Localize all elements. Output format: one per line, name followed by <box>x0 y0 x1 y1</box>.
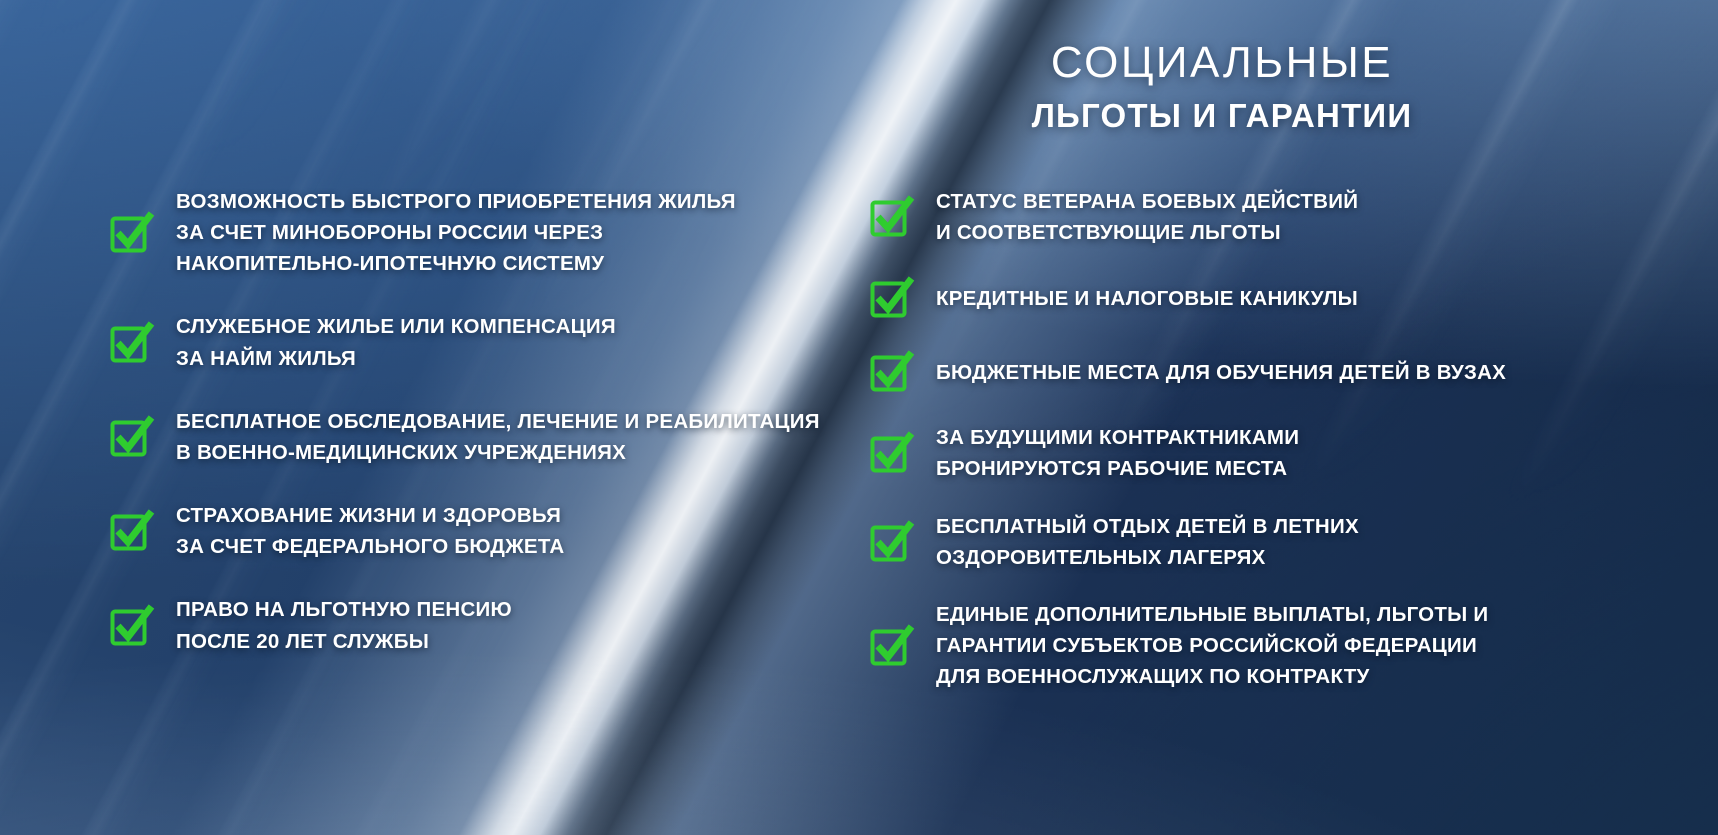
poster-content: СОЦИАЛЬНЫЕ ЛЬГОТЫ И ГАРАНТИИ ВОЗМОЖНОСТЬ… <box>0 0 1718 835</box>
benefit-item: ПРАВО НА ЛЬГОТНУЮ ПЕНСИЮПОСЛЕ 20 ЛЕТ СЛУ… <box>108 594 838 656</box>
benefit-text-line: ЕДИНЫЕ ДОПОЛНИТЕЛЬНЫЕ ВЫПЛАТЫ, ЛЬГОТЫ И <box>936 599 1488 630</box>
benefit-text: ВОЗМОЖНОСТЬ БЫСТРОГО ПРИОБРЕТЕНИЯ ЖИЛЬЯЗ… <box>176 186 736 279</box>
benefit-text: СТАТУС ВЕТЕРАНА БОЕВЫХ ДЕЙСТВИЙИ СООТВЕТ… <box>936 186 1358 248</box>
page-title: СОЦИАЛЬНЫЕ ЛЬГОТЫ И ГАРАНТИИ <box>862 40 1582 134</box>
checkbox-checked-icon <box>108 602 156 650</box>
checkbox-checked-icon <box>868 622 916 670</box>
benefit-text: ЗА БУДУЩИМИ КОНТРАКТНИКАМИБРОНИРУЮТСЯ РА… <box>936 422 1299 484</box>
benefit-text-line: И СООТВЕТСТВУЮЩИЕ ЛЬГОТЫ <box>936 217 1358 248</box>
benefits-column-left: ВОЗМОЖНОСТЬ БЫСТРОГО ПРИОБРЕТЕНИЯ ЖИЛЬЯЗ… <box>108 186 838 689</box>
benefit-text-line: КРЕДИТНЫЕ И НАЛОГОВЫЕ КАНИКУЛЫ <box>936 283 1358 314</box>
benefit-text-line: СЛУЖЕБНОЕ ЖИЛЬЕ ИЛИ КОМПЕНСАЦИЯ <box>176 311 616 342</box>
benefit-text-line: ЗА СЧЕТ МИНОБОРОНЫ РОССИИ ЧЕРЕЗ <box>176 217 736 248</box>
benefit-item: СЛУЖЕБНОЕ ЖИЛЬЕ ИЛИ КОМПЕНСАЦИЯЗА НАЙМ Ж… <box>108 311 838 373</box>
benefit-text-line: ЗА НАЙМ ЖИЛЬЯ <box>176 343 616 374</box>
benefit-text-line: ОЗДОРОВИТЕЛЬНЫХ ЛАГЕРЯХ <box>936 542 1359 573</box>
benefit-text-line: ПОСЛЕ 20 ЛЕТ СЛУЖБЫ <box>176 626 512 657</box>
benefit-text-line: БЕСПЛАТНОЕ ОБСЛЕДОВАНИЕ, ЛЕЧЕНИЕ И РЕАБИ… <box>176 406 820 437</box>
benefit-text: КРЕДИТНЫЕ И НАЛОГОВЫЕ КАНИКУЛЫ <box>936 283 1358 314</box>
benefit-text: БЮДЖЕТНЫЕ МЕСТА ДЛЯ ОБУЧЕНИЯ ДЕТЕЙ В ВУЗ… <box>936 357 1506 388</box>
benefit-text-line: ПРАВО НА ЛЬГОТНУЮ ПЕНСИЮ <box>176 594 512 625</box>
benefit-item: ВОЗМОЖНОСТЬ БЫСТРОГО ПРИОБРЕТЕНИЯ ЖИЛЬЯЗ… <box>108 186 838 279</box>
benefits-column-right: СТАТУС ВЕТЕРАНА БОЕВЫХ ДЕЙСТВИЙИ СООТВЕТ… <box>868 186 1558 718</box>
checkbox-checked-icon <box>868 348 916 396</box>
benefit-text-line: ЗА СЧЕТ ФЕДЕРАЛЬНОГО БЮДЖЕТА <box>176 531 564 562</box>
benefit-item: ЕДИНЫЕ ДОПОЛНИТЕЛЬНЫЕ ВЫПЛАТЫ, ЛЬГОТЫ ИГ… <box>868 599 1558 692</box>
checkbox-checked-icon <box>108 507 156 555</box>
benefit-item: БЕСПЛАТНОЕ ОБСЛЕДОВАНИЕ, ЛЕЧЕНИЕ И РЕАБИ… <box>108 406 838 468</box>
benefit-text: БЕСПЛАТНЫЙ ОТДЫХ ДЕТЕЙ В ЛЕТНИХОЗДОРОВИТ… <box>936 511 1359 573</box>
benefit-text-line: БЮДЖЕТНЫЕ МЕСТА ДЛЯ ОБУЧЕНИЯ ДЕТЕЙ В ВУЗ… <box>936 357 1506 388</box>
benefit-text: ПРАВО НА ЛЬГОТНУЮ ПЕНСИЮПОСЛЕ 20 ЛЕТ СЛУ… <box>176 594 512 656</box>
benefit-text: БЕСПЛАТНОЕ ОБСЛЕДОВАНИЕ, ЛЕЧЕНИЕ И РЕАБИ… <box>176 406 820 468</box>
poster-slide: СОЦИАЛЬНЫЕ ЛЬГОТЫ И ГАРАНТИИ ВОЗМОЖНОСТЬ… <box>0 0 1718 835</box>
benefit-text-line: БРОНИРУЮТСЯ РАБОЧИЕ МЕСТА <box>936 453 1299 484</box>
benefit-text-line: БЕСПЛАТНЫЙ ОТДЫХ ДЕТЕЙ В ЛЕТНИХ <box>936 511 1359 542</box>
checkbox-checked-icon <box>868 518 916 566</box>
benefit-item: ЗА БУДУЩИМИ КОНТРАКТНИКАМИБРОНИРУЮТСЯ РА… <box>868 422 1558 484</box>
title-primary: СОЦИАЛЬНЫЕ <box>862 40 1582 86</box>
benefit-text-line: ДЛЯ ВОЕННОСЛУЖАЩИХ ПО КОНТРАКТУ <box>936 661 1488 692</box>
checkbox-checked-icon <box>868 429 916 477</box>
benefit-text-line: ЗА БУДУЩИМИ КОНТРАКТНИКАМИ <box>936 422 1299 453</box>
benefit-text: ЕДИНЫЕ ДОПОЛНИТЕЛЬНЫЕ ВЫПЛАТЫ, ЛЬГОТЫ ИГ… <box>936 599 1488 692</box>
benefit-item: СТАТУС ВЕТЕРАНА БОЕВЫХ ДЕЙСТВИЙИ СООТВЕТ… <box>868 186 1558 248</box>
benefit-text-line: СТРАХОВАНИЕ ЖИЗНИ И ЗДОРОВЬЯ <box>176 500 564 531</box>
checkbox-checked-icon <box>868 193 916 241</box>
benefit-item: СТРАХОВАНИЕ ЖИЗНИ И ЗДОРОВЬЯЗА СЧЕТ ФЕДЕ… <box>108 500 838 562</box>
benefit-text-line: В ВОЕННО-МЕДИЦИНСКИХ УЧРЕЖДЕНИЯХ <box>176 437 820 468</box>
checkbox-checked-icon <box>868 274 916 322</box>
benefit-item: БЮДЖЕТНЫЕ МЕСТА ДЛЯ ОБУЧЕНИЯ ДЕТЕЙ В ВУЗ… <box>868 348 1558 396</box>
benefit-text-line: НАКОПИТЕЛЬНО-ИПОТЕЧНУЮ СИСТЕМУ <box>176 248 736 279</box>
checkbox-checked-icon <box>108 319 156 367</box>
benefit-text-line: ГАРАНТИИ СУБЪЕКТОВ РОССИЙСКОЙ ФЕДЕРАЦИИ <box>936 630 1488 661</box>
benefit-item: БЕСПЛАТНЫЙ ОТДЫХ ДЕТЕЙ В ЛЕТНИХОЗДОРОВИТ… <box>868 511 1558 573</box>
benefit-item: КРЕДИТНЫЕ И НАЛОГОВЫЕ КАНИКУЛЫ <box>868 274 1558 322</box>
benefit-text: СТРАХОВАНИЕ ЖИЗНИ И ЗДОРОВЬЯЗА СЧЕТ ФЕДЕ… <box>176 500 564 562</box>
benefit-text: СЛУЖЕБНОЕ ЖИЛЬЕ ИЛИ КОМПЕНСАЦИЯЗА НАЙМ Ж… <box>176 311 616 373</box>
benefit-text-line: ВОЗМОЖНОСТЬ БЫСТРОГО ПРИОБРЕТЕНИЯ ЖИЛЬЯ <box>176 186 736 217</box>
benefit-text-line: СТАТУС ВЕТЕРАНА БОЕВЫХ ДЕЙСТВИЙ <box>936 186 1358 217</box>
checkbox-checked-icon <box>108 413 156 461</box>
checkbox-checked-icon <box>108 209 156 257</box>
title-secondary: ЛЬГОТЫ И ГАРАНТИИ <box>862 98 1582 134</box>
